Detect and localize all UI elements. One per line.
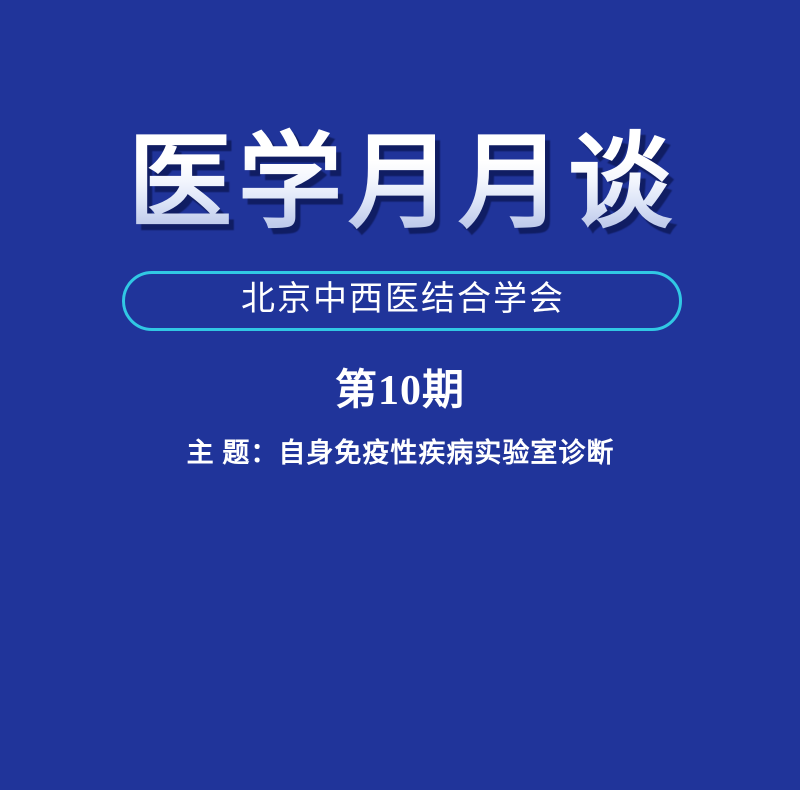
topic-line: 主 题：自身免疫性疾病实验室诊断 [0, 436, 800, 471]
poster-title: 医学月月谈 医学月月谈 [0, 126, 800, 242]
organization-name: 北京中西医结合学会 [239, 283, 565, 317]
organization-pill: 北京中西医结合学会 [122, 271, 682, 331]
poster-title-text: 医学月月谈 [0, 126, 800, 242]
poster-empty-area [0, 480, 800, 790]
issue-number: 第10期 [0, 368, 800, 414]
poster-canvas: 医学月月谈 医学月月谈 北京中西医结合学会 第10期 主 题：自身免疫性疾病实验… [0, 0, 800, 790]
